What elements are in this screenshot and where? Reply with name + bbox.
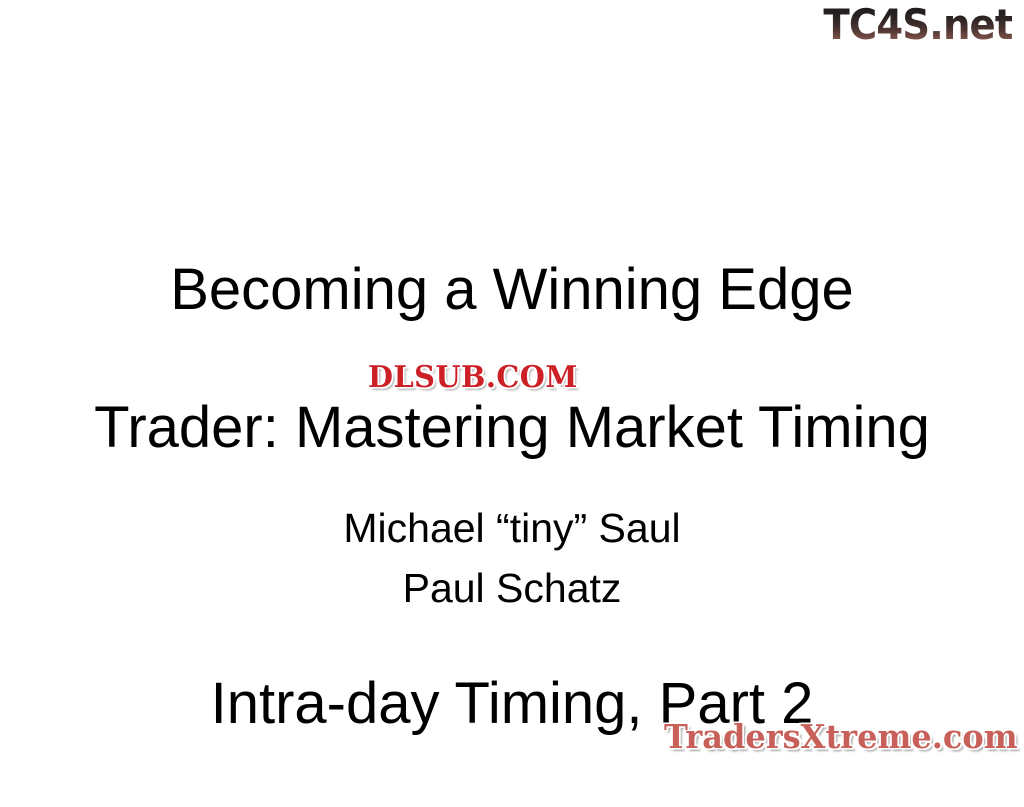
title-line-1: Becoming a Winning Edge (0, 255, 1024, 324)
title-line-2: Trader: Mastering Market Timing (0, 393, 1024, 462)
tc4s-watermark: TC4S.net (823, 2, 1012, 48)
tradersxtreme-watermark: TradersXtreme.com (664, 718, 1018, 756)
dlsub-watermark: DLSUB.COM (368, 361, 578, 395)
author-line-2: Paul Schatz (0, 558, 1024, 618)
presentation-slide: TC4S.net Becoming a Winning Edge Trader:… (0, 0, 1024, 768)
author-line-1: Michael “tiny” Saul (0, 498, 1024, 558)
slide-authors: Michael “tiny” Saul Paul Schatz (0, 498, 1024, 618)
slide-title: Becoming a Winning Edge Trader: Masterin… (0, 186, 1024, 807)
